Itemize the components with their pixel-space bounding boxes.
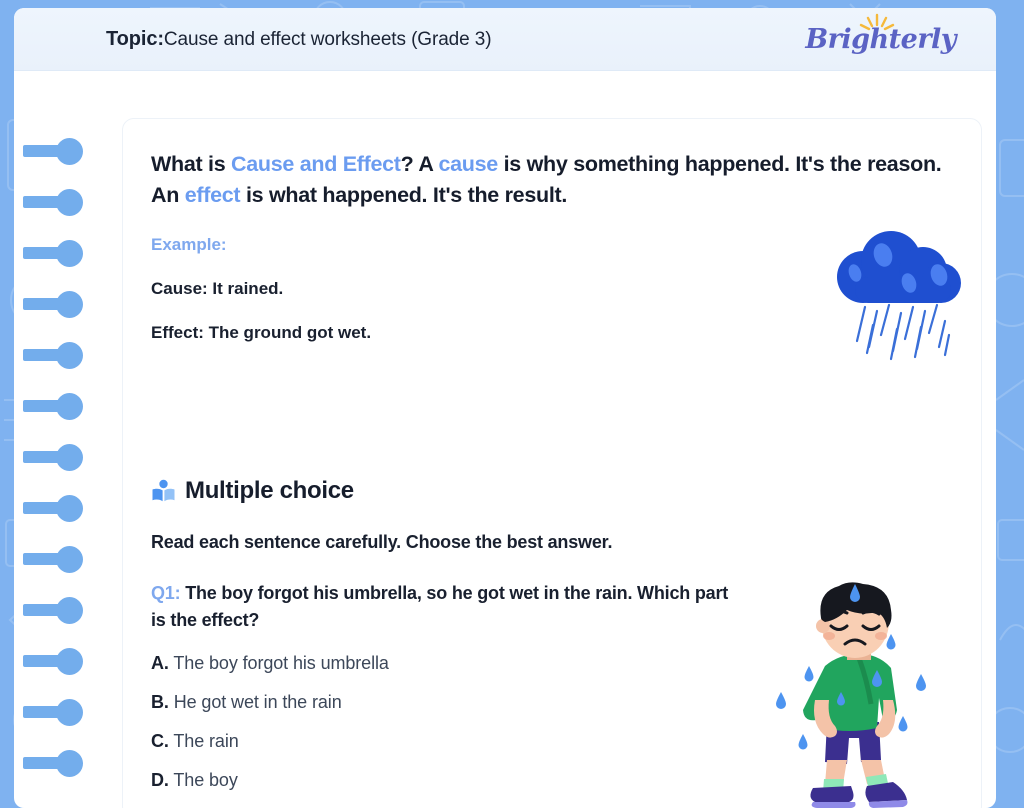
binding-ring	[56, 393, 83, 420]
option-text: The boy forgot his umbrella	[173, 653, 388, 673]
rain-cloud-illustration	[817, 229, 977, 364]
option-letter: B.	[151, 692, 169, 712]
binding-ring	[56, 342, 83, 369]
binding-ring	[56, 189, 83, 216]
worksheet-header: Topic:Cause and effect worksheets (Grade…	[14, 8, 996, 71]
binding-ring	[56, 597, 83, 624]
section-heading: Multiple choice	[151, 477, 951, 505]
intro-highlight-cause-and-effect: Cause and Effect	[231, 152, 401, 176]
sad-wet-boy-illustration	[763, 574, 953, 808]
brighterly-logo: Brighterly	[805, 17, 960, 61]
intro-highlight-cause: cause	[438, 152, 497, 176]
section-instructions: Read each sentence carefully. Choose the…	[151, 532, 951, 553]
option-letter: C.	[151, 731, 169, 751]
option-letter: A.	[151, 653, 169, 673]
option-letter: D.	[151, 770, 169, 790]
spiral-binding	[14, 8, 124, 808]
intro-highlight-effect: effect	[185, 183, 241, 207]
binding-ring	[56, 138, 83, 165]
option-text: The boy	[173, 770, 237, 790]
content-card: What is Cause and Effect? A cause is why…	[122, 118, 982, 808]
binding-ring	[56, 648, 83, 675]
binding-ring	[56, 750, 83, 777]
intro-paragraph: What is Cause and Effect? A cause is why…	[151, 149, 953, 211]
open-book-icon	[151, 479, 176, 504]
intro-part2: ? A	[401, 152, 439, 176]
section-title: Multiple choice	[185, 477, 354, 505]
binding-ring	[56, 444, 83, 471]
binding-ring	[56, 699, 83, 726]
sun-burst-icon	[857, 13, 897, 33]
question-number: Q1:	[151, 583, 180, 603]
binding-ring	[56, 546, 83, 573]
intro-part1: What is	[151, 152, 231, 176]
option-text: He got wet in the rain	[174, 692, 342, 712]
question-body: The boy forgot his umbrella, so he got w…	[151, 583, 728, 630]
intro-part4: is what happened. It's the result.	[240, 183, 567, 207]
option-text: The rain	[173, 731, 238, 751]
binding-ring	[56, 495, 83, 522]
worksheet-page: Topic:Cause and effect worksheets (Grade…	[14, 8, 996, 808]
question-text: Q1: The boy forgot his umbrella, so he g…	[151, 580, 741, 634]
binding-ring	[56, 291, 83, 318]
topic-value: Cause and effect worksheets (Grade 3)	[164, 29, 492, 50]
binding-ring	[56, 240, 83, 267]
topic-line: Topic:Cause and effect worksheets (Grade…	[106, 28, 491, 51]
